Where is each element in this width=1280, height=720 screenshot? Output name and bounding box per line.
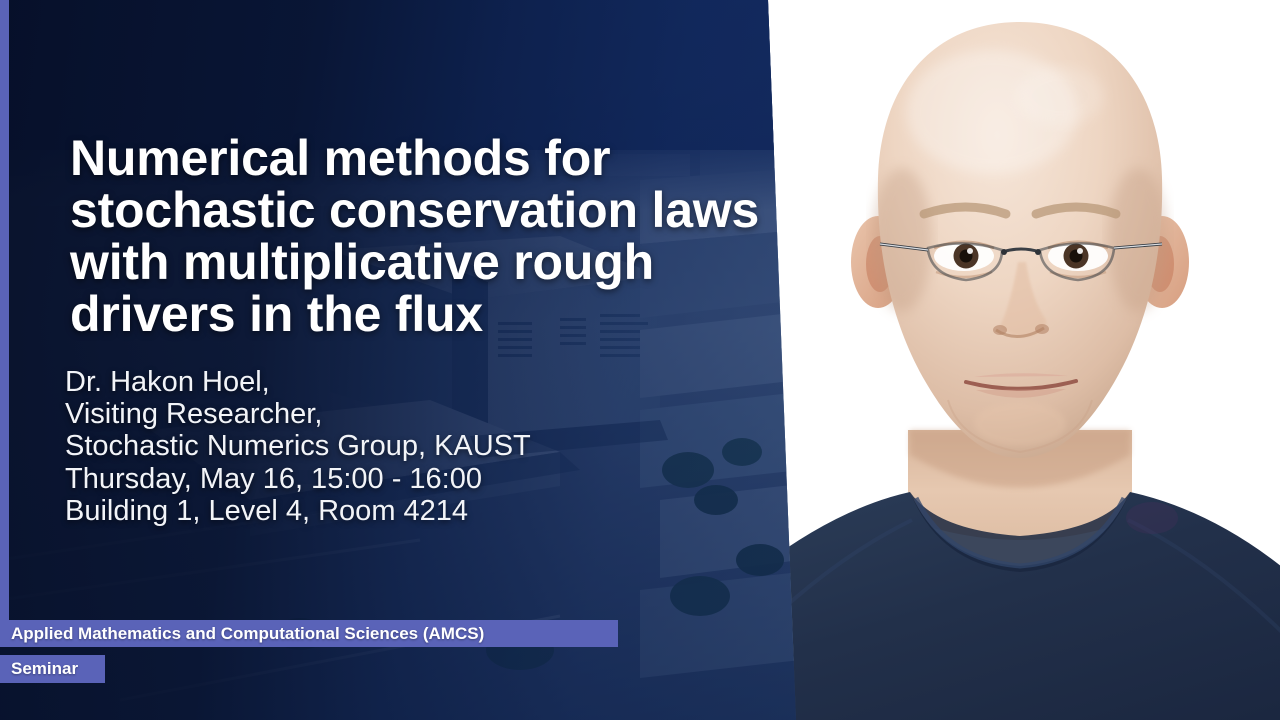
event-type-banner: Seminar bbox=[0, 655, 105, 683]
department-banner-label: Applied Mathematics and Computational Sc… bbox=[11, 624, 484, 644]
seminar-slide: Numerical methods for stochastic conserv… bbox=[0, 0, 1280, 720]
blue-overlay-tint bbox=[0, 0, 800, 720]
hero-panel bbox=[0, 0, 800, 720]
left-accent-stripe bbox=[0, 0, 9, 620]
portrait-photo-illustration bbox=[760, 0, 1280, 720]
department-banner: Applied Mathematics and Computational Sc… bbox=[0, 620, 618, 647]
talk-details: Dr. Hakon Hoel, Visiting Researcher, Sto… bbox=[65, 366, 725, 527]
speaker-portrait bbox=[760, 0, 1280, 720]
event-type-banner-label: Seminar bbox=[11, 659, 78, 679]
talk-title: Numerical methods for stochastic conserv… bbox=[70, 132, 760, 340]
